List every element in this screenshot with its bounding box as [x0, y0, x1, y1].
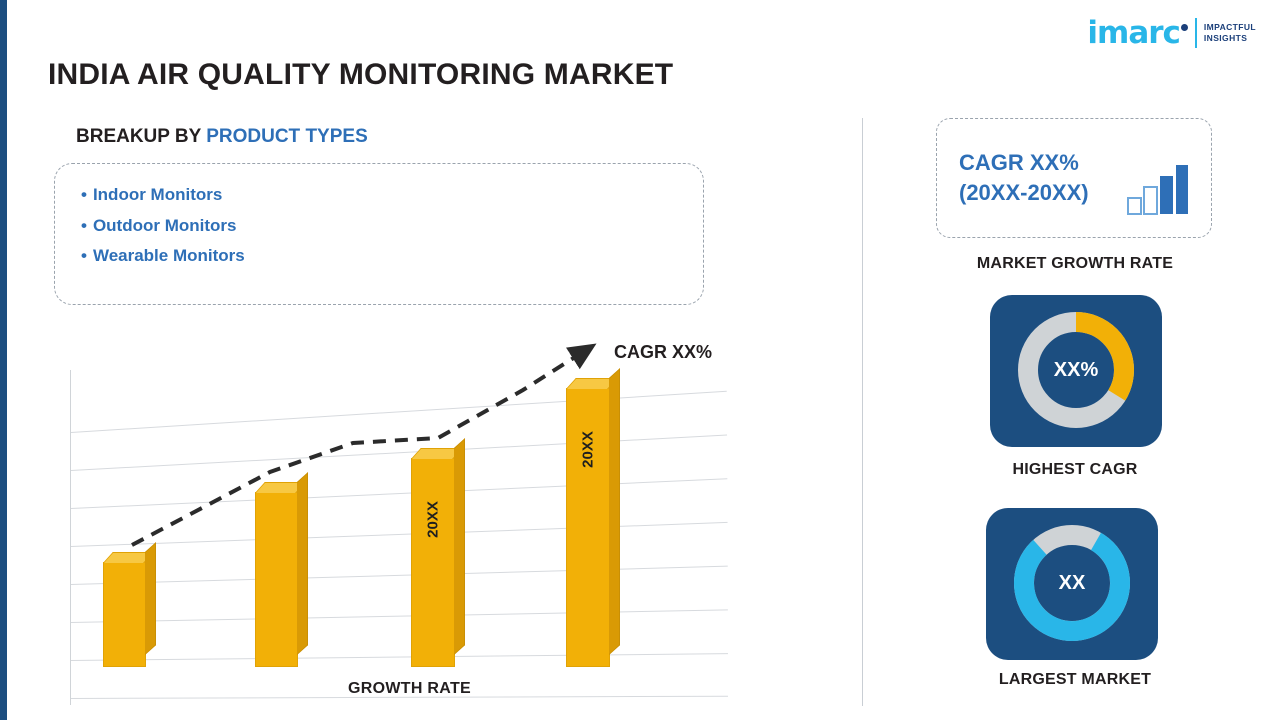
chart-gridlines [68, 370, 728, 705]
gridline [71, 434, 727, 471]
highest-cagr-value: XX% [1012, 306, 1140, 434]
list-item: •Wearable Monitors [81, 241, 677, 272]
bar-side-face [609, 368, 620, 655]
logo-tagline-line1: IMPACTFUL [1204, 22, 1256, 33]
bar-1 [103, 562, 146, 667]
bar-4: 20XX [566, 388, 610, 667]
logo-wordmark: imarc [1087, 18, 1188, 49]
largest-market-caption: LARGEST MARKET [872, 671, 1278, 689]
bar-side-face [454, 438, 465, 655]
breakup-heading-prefix: BREAKUP BY [76, 126, 206, 147]
bar-chart-icon [1127, 163, 1189, 215]
market-growth-rate-box: CAGR XX% (20XX-20XX) [936, 118, 1212, 238]
logo-tagline-line2: INSIGHTS [1204, 33, 1256, 44]
highest-cagr-caption: HIGHEST CAGR [872, 461, 1278, 479]
cagr-value: CAGR XX% [959, 148, 1089, 178]
page-title: INDIA AIR QUALITY MONITORING MARKET [48, 58, 673, 92]
bullet-icon: • [81, 246, 87, 265]
gridline [71, 478, 727, 509]
largest-market-value: XX [1008, 519, 1136, 647]
highest-cagr-card: XX% [990, 295, 1162, 447]
bar-label-4: 20XX [580, 429, 597, 471]
section-divider [862, 118, 863, 706]
chart-xlabel: GROWTH RATE [348, 680, 471, 698]
chart-axis-left [70, 370, 71, 705]
gridline [71, 609, 728, 623]
bar-2 [255, 492, 298, 667]
left-accent-bar [0, 0, 7, 720]
logo-dot-icon [1181, 24, 1188, 31]
bar-label-3: 20XX [425, 499, 442, 541]
bar-side-face [297, 472, 308, 655]
list-item-label: Wearable Monitors [93, 246, 245, 265]
cagr-period: (20XX-20XX) [959, 178, 1089, 208]
market-growth-rate-caption: MARKET GROWTH RATE [872, 255, 1278, 273]
bar-3: 20XX [411, 458, 455, 667]
gridline [71, 522, 728, 547]
breakup-heading-highlight: PRODUCT TYPES [206, 126, 368, 147]
list-item: •Indoor Monitors [81, 180, 677, 211]
slide-canvas: imarc IMPACTFUL INSIGHTS INDIA AIR QUALI… [0, 0, 1280, 720]
gridline [71, 566, 728, 585]
bar-side-face [145, 542, 156, 655]
largest-market-donut: XX [1008, 519, 1136, 652]
bullet-icon: • [81, 216, 87, 235]
chart-cagr-annotation: CAGR XX% [614, 342, 712, 363]
gridline [71, 653, 728, 661]
list-item: •Outdoor Monitors [81, 211, 677, 242]
list-item-label: Outdoor Monitors [93, 216, 237, 235]
highest-cagr-donut: XX% [1012, 306, 1140, 439]
breakup-heading: BREAKUP BY PRODUCT TYPES [76, 126, 368, 148]
logo-wordmark-text: imarc [1087, 15, 1180, 51]
logo-tagline: IMPACTFUL INSIGHTS [1204, 22, 1256, 45]
cagr-text: CAGR XX% (20XX-20XX) [959, 148, 1089, 207]
gridline [71, 391, 727, 433]
growth-bar-chart: 20XX 20XX CAGR XX% GROWTH RATE [48, 330, 748, 710]
imarc-logo: imarc IMPACTFUL INSIGHTS [1087, 14, 1256, 52]
product-types-box: •Indoor Monitors •Outdoor Monitors •Wear… [54, 163, 704, 305]
list-item-label: Indoor Monitors [93, 185, 222, 204]
bullet-icon: • [81, 185, 87, 204]
logo-divider [1195, 18, 1197, 48]
largest-market-card: XX [986, 508, 1158, 660]
